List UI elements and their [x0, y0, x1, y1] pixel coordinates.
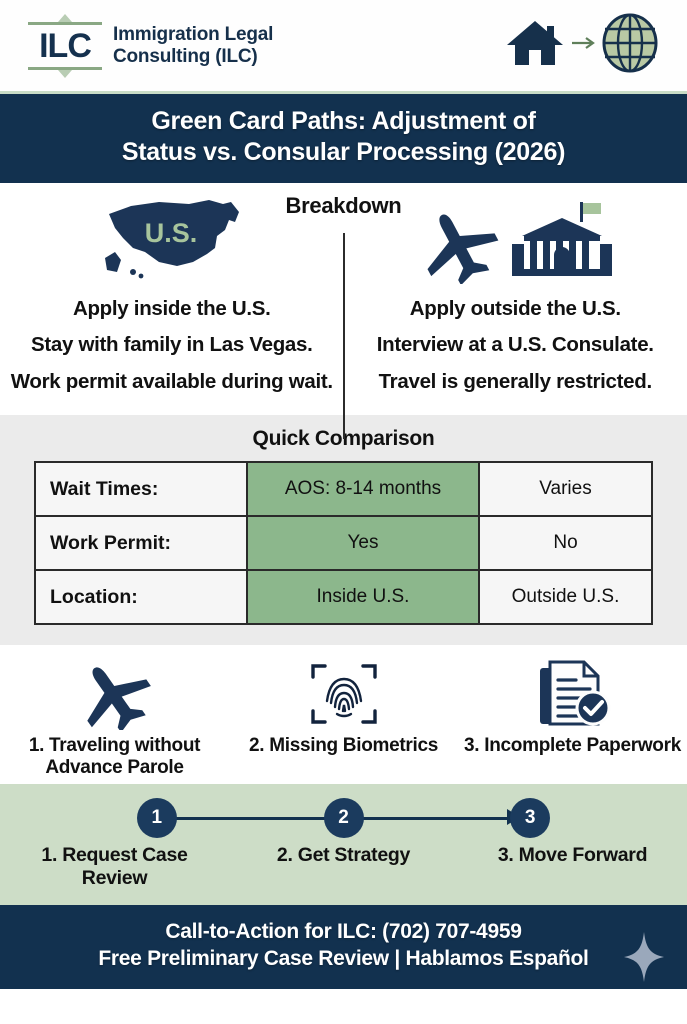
consular-column: Apply outside the U.S. Interview at a U.…	[344, 197, 687, 393]
row-aos-value: Inside U.S.	[247, 570, 479, 624]
row-consular-value: No	[479, 516, 652, 570]
step-number-badge: 3	[510, 798, 550, 838]
consulate-building-icon	[510, 200, 614, 289]
aos-column: U.S. Apply inside the U.S. Stay with fam…	[0, 197, 344, 393]
globe-icon	[601, 13, 659, 78]
fingerprint-scan-icon	[235, 657, 452, 731]
step-label: 1. Request Case Review	[0, 844, 229, 889]
aos-text-lines: Apply inside the U.S. Stay with family i…	[10, 297, 334, 393]
consular-line-2: Interview at a U.S. Consulate.	[354, 333, 678, 356]
consular-line-3: Travel is generally restricted.	[354, 370, 678, 393]
cta-line-2: Free Preliminary Case Review | Hablamos …	[18, 946, 669, 973]
consular-text-lines: Apply outside the U.S. Interview at a U.…	[354, 297, 678, 393]
header-bar: ILC Immigration Legal Consulting (ILC)	[0, 0, 687, 94]
aos-line-1: Apply inside the U.S.	[10, 297, 334, 320]
title-line-2: Status vs. Consular Processing (2026)	[122, 138, 565, 166]
consular-line-1: Apply outside the U.S.	[354, 297, 678, 320]
svg-text:U.S.: U.S.	[144, 218, 197, 248]
triangle-up-icon	[58, 14, 72, 22]
arrow-right-icon	[571, 33, 597, 58]
sparkle-icon	[623, 931, 665, 988]
step-circles: 1 2 3	[64, 798, 624, 838]
steps-rail: 1 2 3	[64, 798, 624, 838]
step-number-badge: 1	[137, 798, 177, 838]
us-map-icon: U.S.	[97, 192, 247, 289]
step-circle-wrap-3: 3	[437, 798, 624, 838]
mistakes-section: 1. Traveling without Advance Parole	[0, 645, 687, 784]
airplane-icon	[416, 206, 504, 289]
comparison-section: Quick Comparison Wait Times: AOS: 8-14 m…	[0, 415, 687, 645]
table-row: Wait Times: AOS: 8-14 months Varies	[35, 462, 652, 516]
step-circle-wrap-2: 2	[250, 798, 437, 838]
mistake-item-3: 3. Incomplete Paperwork	[458, 657, 687, 778]
mistake-item-2: 2. Missing Biometrics	[229, 657, 458, 778]
aos-line-3: Work permit available during wait.	[10, 370, 334, 393]
step-label: 2. Get Strategy	[229, 844, 458, 889]
mistake-label: 2. Missing Biometrics	[235, 735, 452, 757]
row-consular-value: Varies	[479, 462, 652, 516]
breakdown-columns: U.S. Apply inside the U.S. Stay with fam…	[0, 197, 687, 393]
cta-line-1: Call-to-Action for ILC: (702) 707-4959	[18, 919, 669, 946]
header-icon-group	[503, 13, 659, 78]
table-row: Work Permit: Yes No	[35, 516, 652, 570]
comparison-table: Wait Times: AOS: 8-14 months Varies Work…	[34, 461, 653, 625]
mistake-item-1: 1. Traveling without Advance Parole	[0, 657, 229, 778]
row-aos-value: AOS: 8-14 months	[247, 462, 479, 516]
triangle-down-icon	[58, 70, 72, 78]
document-check-icon	[464, 657, 681, 731]
step-label: 3. Move Forward	[458, 844, 687, 889]
mistake-label: 1. Traveling without Advance Parole	[6, 735, 223, 778]
row-label: Wait Times:	[35, 462, 247, 516]
aos-line-2: Stay with family in Las Vegas.	[10, 333, 334, 356]
title-banner: Green Card Paths: Adjustment of Status v…	[0, 94, 687, 183]
steps-section: 1 2 3 1. Request Case Review 2. Get Stra…	[0, 784, 687, 905]
brand-line-2: Consulting (ILC)	[113, 46, 273, 67]
row-label: Location:	[35, 570, 247, 624]
consular-icon-group	[354, 197, 678, 289]
step-labels: 1. Request Case Review 2. Get Strategy 3…	[0, 844, 687, 889]
logo-letters: ILC	[39, 25, 91, 67]
aos-icon-group: U.S.	[10, 197, 334, 289]
ilc-logo-mark: ILC	[28, 15, 102, 77]
brand-logo: ILC Immigration Legal Consulting (ILC)	[28, 15, 273, 77]
table-row: Location: Inside U.S. Outside U.S.	[35, 570, 652, 624]
row-consular-value: Outside U.S.	[479, 570, 652, 624]
row-label: Work Permit:	[35, 516, 247, 570]
step-number-badge: 2	[324, 798, 364, 838]
page-title: Green Card Paths: Adjustment of Status v…	[22, 106, 665, 167]
mistake-label: 3. Incomplete Paperwork	[464, 735, 681, 757]
breakdown-section: Breakdown U.S.	[0, 183, 687, 405]
cta-footer: Call-to-Action for ILC: (702) 707-4959 F…	[0, 905, 687, 989]
infographic-page: ILC Immigration Legal Consulting (ILC)	[0, 0, 687, 1024]
row-aos-value: Yes	[247, 516, 479, 570]
brand-name: Immigration Legal Consulting (ILC)	[113, 24, 273, 67]
house-icon	[503, 17, 567, 74]
step-circle-wrap-1: 1	[64, 798, 251, 838]
column-divider	[343, 233, 345, 439]
brand-line-1: Immigration Legal	[113, 24, 273, 45]
title-line-1: Green Card Paths: Adjustment of	[151, 107, 535, 135]
airplane-icon	[6, 657, 223, 731]
